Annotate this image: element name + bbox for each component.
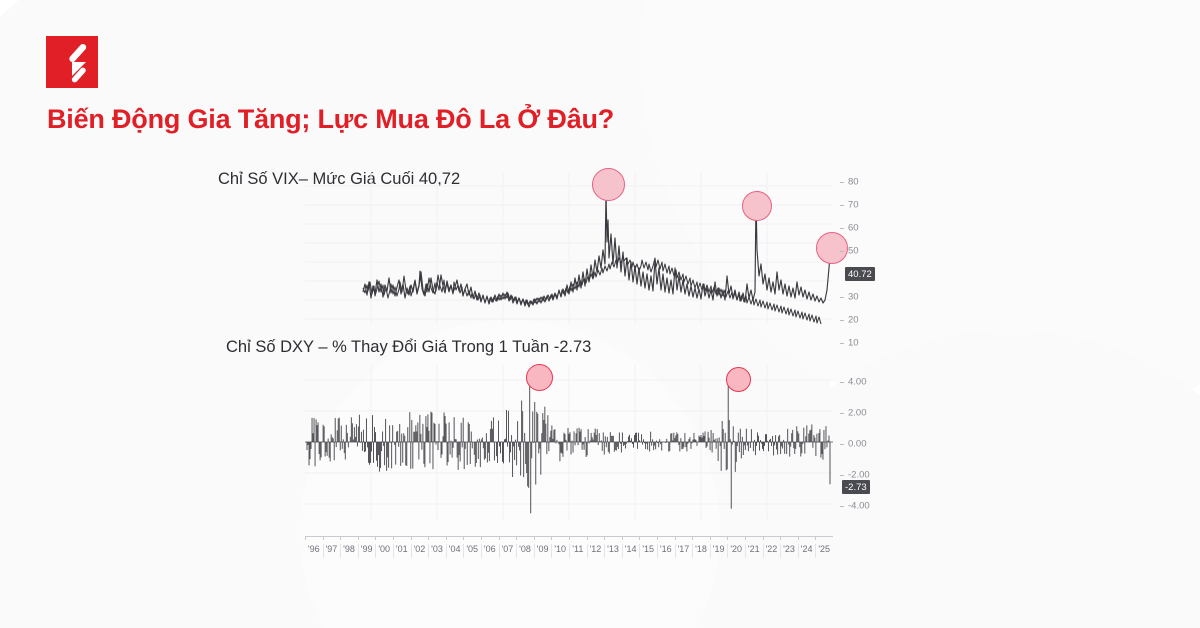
vix-last-value-badge: 40.72 bbox=[845, 267, 875, 281]
x-axis-tick bbox=[375, 536, 376, 540]
x-tick-label: '11 bbox=[572, 544, 583, 554]
x-axis-separator bbox=[569, 544, 570, 558]
y-tick-label: 10 bbox=[848, 338, 859, 349]
x-axis-tick bbox=[604, 536, 605, 540]
x-axis-separator bbox=[481, 544, 482, 558]
x-axis-separator bbox=[763, 544, 764, 558]
x-tick-label: '06 bbox=[484, 544, 496, 554]
x-axis-tick bbox=[639, 536, 640, 540]
x-axis-separator bbox=[411, 544, 412, 558]
chart-figure: Chỉ Số VIX– Mức Giá Cuối 40,72 bbox=[0, 0, 1200, 628]
x-axis-tick bbox=[463, 536, 464, 540]
dxy-y-axis: 4.00 2.00 0.00 -2.00 -4.00 -2.73 bbox=[840, 367, 894, 525]
x-axis-tick bbox=[798, 536, 799, 540]
y-tick-label: -2.00 bbox=[848, 470, 870, 481]
x-tick-label: '00 bbox=[378, 544, 390, 554]
x-axis-separator bbox=[428, 544, 429, 558]
x-axis-tick bbox=[569, 536, 570, 540]
x-tick-label: '04 bbox=[449, 544, 461, 554]
y-tick-label: 30 bbox=[848, 292, 859, 303]
y-tick-label: 70 bbox=[848, 200, 859, 211]
dxy-2008-spike-highlight bbox=[526, 364, 553, 391]
vix-line-chart bbox=[305, 172, 833, 324]
x-axis-separator bbox=[692, 544, 693, 558]
y-tick-label: 2.00 bbox=[848, 408, 867, 419]
x-tick-label: '17 bbox=[678, 544, 690, 554]
x-axis-tick bbox=[675, 536, 676, 540]
x-tick-label: '08 bbox=[519, 544, 531, 554]
x-axis-separator bbox=[446, 544, 447, 558]
x-axis-tick bbox=[587, 536, 588, 540]
x-tick-label: '05 bbox=[466, 544, 478, 554]
x-axis-separator bbox=[516, 544, 517, 558]
x-axis-separator bbox=[745, 544, 746, 558]
x-tick-label: '97 bbox=[326, 544, 338, 554]
x-axis-tick bbox=[763, 536, 764, 540]
x-tick-label: '99 bbox=[361, 544, 373, 554]
vix-2008-spike-highlight bbox=[592, 168, 625, 201]
x-axis-separator bbox=[463, 544, 464, 558]
x-axis-tick bbox=[411, 536, 412, 540]
y-tick-label: 80 bbox=[848, 177, 859, 188]
x-axis-separator bbox=[340, 544, 341, 558]
x-axis-tick bbox=[323, 536, 324, 540]
x-axis-separator bbox=[358, 544, 359, 558]
x-axis-separator bbox=[551, 544, 552, 558]
x-axis-tick bbox=[815, 536, 816, 540]
x-axis: '96'97'98'99'00'01'02'03'04'05'06'07'08'… bbox=[305, 536, 833, 566]
x-axis-separator bbox=[639, 544, 640, 558]
x-axis-separator bbox=[323, 544, 324, 558]
infographic-canvas: Biến Động Gia Tăng; Lực Mua Đô La Ở Đâu?… bbox=[0, 0, 1200, 628]
x-tick-label: '21 bbox=[748, 544, 760, 554]
x-tick-label: '19 bbox=[713, 544, 725, 554]
x-tick-label: '22 bbox=[766, 544, 778, 554]
x-axis-tick bbox=[428, 536, 429, 540]
x-tick-label: '09 bbox=[537, 544, 549, 554]
x-axis-tick bbox=[481, 536, 482, 540]
y-tick-label: 4.00 bbox=[848, 377, 867, 388]
x-axis-tick bbox=[657, 536, 658, 540]
x-axis-tick bbox=[745, 536, 746, 540]
y-tick-label: 0.00 bbox=[848, 439, 867, 450]
x-axis-tick bbox=[340, 536, 341, 540]
x-axis-tick bbox=[692, 536, 693, 540]
x-tick-label: '03 bbox=[431, 544, 443, 554]
x-axis-tick bbox=[358, 536, 359, 540]
x-axis-tick bbox=[780, 536, 781, 540]
y-tick-label: 60 bbox=[848, 223, 859, 234]
dxy-last-value-badge: -2.73 bbox=[842, 480, 870, 494]
x-axis-tick bbox=[446, 536, 447, 540]
x-tick-label: '18 bbox=[695, 544, 707, 554]
x-axis-separator bbox=[393, 544, 394, 558]
x-axis-separator bbox=[587, 544, 588, 558]
x-tick-label: '13 bbox=[607, 544, 619, 554]
x-axis-separator bbox=[604, 544, 605, 558]
x-axis-separator bbox=[534, 544, 535, 558]
x-tick-label: '02 bbox=[414, 544, 426, 554]
x-axis-tick bbox=[393, 536, 394, 540]
x-axis-tick bbox=[516, 536, 517, 540]
x-axis-tick bbox=[305, 536, 306, 540]
x-tick-label: '15 bbox=[642, 544, 654, 554]
x-tick-label: '25 bbox=[818, 544, 830, 554]
x-axis-tick bbox=[727, 536, 728, 540]
x-axis-separator bbox=[710, 544, 711, 558]
x-axis-separator bbox=[727, 544, 728, 558]
x-axis-separator bbox=[657, 544, 658, 558]
x-axis-tick bbox=[499, 536, 500, 540]
vix-y-axis: 80 70 60 50 30 20 10 40.72 bbox=[840, 168, 894, 328]
dxy-2020-spike-highlight bbox=[726, 367, 751, 392]
x-axis-tick bbox=[534, 536, 535, 540]
x-axis-tick bbox=[551, 536, 552, 540]
x-tick-label: '23 bbox=[783, 544, 795, 554]
x-axis-tick bbox=[710, 536, 711, 540]
x-axis-separator bbox=[798, 544, 799, 558]
vix-2020-spike-highlight bbox=[742, 191, 772, 221]
y-tick-label: -4.00 bbox=[848, 501, 870, 512]
x-axis-tick bbox=[622, 536, 623, 540]
x-axis-separator bbox=[622, 544, 623, 558]
x-tick-label: '07 bbox=[502, 544, 514, 554]
y-tick-label: 20 bbox=[848, 315, 859, 326]
x-tick-label: '14 bbox=[625, 544, 637, 554]
x-tick-label: '20 bbox=[730, 544, 742, 554]
x-tick-label: '96 bbox=[308, 544, 320, 554]
x-tick-label: '16 bbox=[660, 544, 672, 554]
x-tick-label: '10 bbox=[554, 544, 566, 554]
x-tick-label: '98 bbox=[343, 544, 355, 554]
x-tick-label: '24 bbox=[801, 544, 813, 554]
dxy-bar-chart bbox=[305, 365, 833, 520]
x-axis-separator bbox=[815, 544, 816, 558]
x-tick-label: '12 bbox=[590, 544, 602, 554]
x-tick-label: '01 bbox=[396, 544, 408, 554]
dxy-chart-title: Chỉ Số DXY – % Thay Đổi Giá Trong 1 Tuần… bbox=[226, 338, 591, 357]
x-axis-separator bbox=[375, 544, 376, 558]
x-axis-separator bbox=[499, 544, 500, 558]
y-tick-label: 50 bbox=[848, 246, 859, 257]
x-axis-separator bbox=[780, 544, 781, 558]
x-axis-separator bbox=[675, 544, 676, 558]
